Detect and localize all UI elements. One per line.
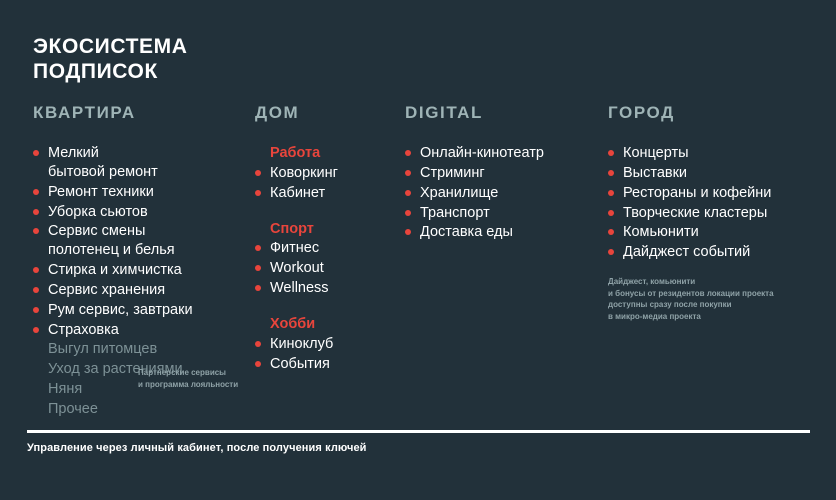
list-item-label: Уборка сьютов xyxy=(48,204,148,220)
list-item[interactable]: Workout xyxy=(255,259,405,278)
list-item-label: Wellness xyxy=(270,280,329,296)
column-heading: КВАРТИРА xyxy=(33,103,248,123)
list-item[interactable]: Кабинет xyxy=(255,184,405,203)
bullet-dot-icon xyxy=(255,190,261,196)
page-title-line-1: ЭКОСИСТЕМА xyxy=(33,35,188,60)
bullet-dot-icon xyxy=(33,267,39,273)
bullet-dot-icon xyxy=(255,245,261,251)
column-list: Онлайн-кинотеатрСтримингХранилищеТранспо… xyxy=(405,144,600,242)
bullet-dot-icon xyxy=(405,210,411,216)
list-item[interactable]: Комьюнити xyxy=(608,223,823,242)
footer-text: Управление через личный кабинет, после п… xyxy=(27,442,367,454)
column-heading: DIGITAL xyxy=(405,103,600,123)
list-item[interactable]: Киноклуб xyxy=(255,335,405,354)
list-item[interactable]: Уборка сьютов xyxy=(33,203,248,222)
list-item-label: Выставки xyxy=(623,165,687,181)
column-list: РаботаКоворкингКабинетСпортФитнесWorkout… xyxy=(255,144,405,373)
column-list: КонцертыВыставкиРестораны и кофейниТворч… xyxy=(608,144,823,262)
list-item-label: Хобби xyxy=(270,316,315,332)
list-item[interactable]: Коворкинг xyxy=(255,164,405,183)
list-item[interactable]: Дайджест событий xyxy=(608,243,823,262)
list-item[interactable]: Стирка и химчистка xyxy=(33,261,248,280)
bullet-dot-icon xyxy=(33,189,39,195)
list-item-label: Концерты xyxy=(623,145,689,161)
list-item-label: Няня xyxy=(48,381,82,397)
list-item[interactable]: События xyxy=(255,355,405,374)
column-heading: ДОМ xyxy=(255,103,405,123)
bullet-dot-icon xyxy=(405,190,411,196)
list-item[interactable]: Мелкийбытовой ремонт xyxy=(33,144,248,182)
list-item-label: Доставка еды xyxy=(420,224,513,240)
column-0: КВАРТИРАМелкийбытовой ремонтРемонт техни… xyxy=(33,103,248,420)
list-item-label: Работа xyxy=(270,145,320,161)
bullet-dot-icon xyxy=(33,327,39,333)
list-item[interactable]: Прочее xyxy=(33,400,248,419)
list-item-label: Кабинет xyxy=(270,185,325,201)
bullet-dot-icon xyxy=(608,229,614,235)
list-item-label: Спорт xyxy=(270,221,314,237)
list-item-label: Прочее xyxy=(48,401,98,417)
list-item[interactable]: Стриминг xyxy=(405,164,600,183)
list-item-label: Выгул питомцев xyxy=(48,341,157,357)
list-item-label: Фитнес xyxy=(270,240,319,256)
bullet-dot-icon xyxy=(405,229,411,235)
list-item[interactable]: Рестораны и кофейни xyxy=(608,184,823,203)
bullet-dot-icon xyxy=(608,210,614,216)
list-item[interactable]: Выставки xyxy=(608,164,823,183)
list-item[interactable]: Фитнес xyxy=(255,239,405,258)
list-item-label: Коворкинг xyxy=(270,165,338,181)
list-subheading[interactable]: Хобби xyxy=(255,315,405,334)
column-1: ДОМРаботаКоворкингКабинетСпортФитнесWork… xyxy=(255,103,405,374)
bullet-dot-icon xyxy=(405,170,411,176)
bullet-dot-icon xyxy=(255,285,261,291)
list-item[interactable]: Wellness xyxy=(255,279,405,298)
bullet-dot-icon xyxy=(608,170,614,176)
bullet-dot-icon xyxy=(33,150,39,156)
column-note: Партнерские сервисыи программа лояльност… xyxy=(138,367,268,390)
bullet-dot-icon xyxy=(33,209,39,215)
list-item[interactable]: Творческие кластеры xyxy=(608,204,823,223)
list-item-label: Рестораны и кофейни xyxy=(623,185,771,201)
list-item-label: Онлайн-кинотеатр xyxy=(420,145,544,161)
list-item-label: Комьюнити xyxy=(623,224,699,240)
bullet-dot-icon xyxy=(255,361,261,367)
list-item-label: Страховка xyxy=(48,322,119,338)
list-item-label: Ремонт техники xyxy=(48,184,154,200)
list-subheading[interactable]: Работа xyxy=(255,144,405,163)
list-item[interactable]: Выгул питомцев xyxy=(33,340,248,359)
bullet-dot-icon xyxy=(255,265,261,271)
bullet-dot-icon xyxy=(255,170,261,176)
list-subheading[interactable]: Спорт xyxy=(255,220,405,239)
list-item[interactable]: Сервис сменыполотенец и белья xyxy=(33,222,248,260)
page-title-line-2: ПОДПИСОК xyxy=(33,60,188,85)
column-heading: ГОРОД xyxy=(608,103,823,123)
list-item-label: Дайджест событий xyxy=(623,244,750,260)
list-item-label: Творческие кластеры xyxy=(623,205,767,221)
bullet-dot-icon xyxy=(608,249,614,255)
bullet-dot-icon xyxy=(608,150,614,156)
list-item[interactable]: Рум сервис, завтраки xyxy=(33,301,248,320)
list-item-label: Workout xyxy=(270,260,324,276)
slide-root: ЭКОСИСТЕМА ПОДПИСОК КВАРТИРАМелкийбытово… xyxy=(0,0,836,500)
list-item[interactable]: Онлайн-кинотеатр xyxy=(405,144,600,163)
page-title: ЭКОСИСТЕМА ПОДПИСОК xyxy=(33,35,188,85)
list-item[interactable]: Ремонт техники xyxy=(33,183,248,202)
list-item-label: Хранилище xyxy=(420,185,498,201)
list-item[interactable]: Хранилище xyxy=(405,184,600,203)
list-item-label: Рум сервис, завтраки xyxy=(48,302,193,318)
column-3: ГОРОДКонцертыВыставкиРестораны и кофейни… xyxy=(608,103,823,322)
list-item-label: Стирка и химчистка xyxy=(48,262,182,278)
bullet-dot-icon xyxy=(33,228,39,234)
list-item-label: События xyxy=(270,356,330,372)
list-item[interactable]: Транспорт xyxy=(405,204,600,223)
list-item-label: Сервис сменыполотенец и белья xyxy=(48,223,175,258)
list-item-label: Транспорт xyxy=(420,205,490,221)
list-item-label: Стриминг xyxy=(420,165,485,181)
list-item-label: Мелкийбытовой ремонт xyxy=(48,145,158,180)
bullet-dot-icon xyxy=(255,341,261,347)
bullet-dot-icon xyxy=(608,190,614,196)
bullet-dot-icon xyxy=(33,307,39,313)
list-item[interactable]: Концерты xyxy=(608,144,823,163)
list-item[interactable]: Страховка xyxy=(33,321,248,340)
column-note: Дайджест, комьюнитии бонусы от резиденто… xyxy=(608,276,808,322)
list-item-label: Киноклуб xyxy=(270,336,333,352)
list-item[interactable]: Сервис хранения xyxy=(33,281,248,300)
footer-divider xyxy=(27,430,810,433)
list-item-label: Сервис хранения xyxy=(48,282,165,298)
bullet-dot-icon xyxy=(405,150,411,156)
column-2: DIGITALОнлайн-кинотеатрСтримингХранилище… xyxy=(405,103,600,243)
bullet-dot-icon xyxy=(33,287,39,293)
list-item[interactable]: Доставка еды xyxy=(405,223,600,242)
